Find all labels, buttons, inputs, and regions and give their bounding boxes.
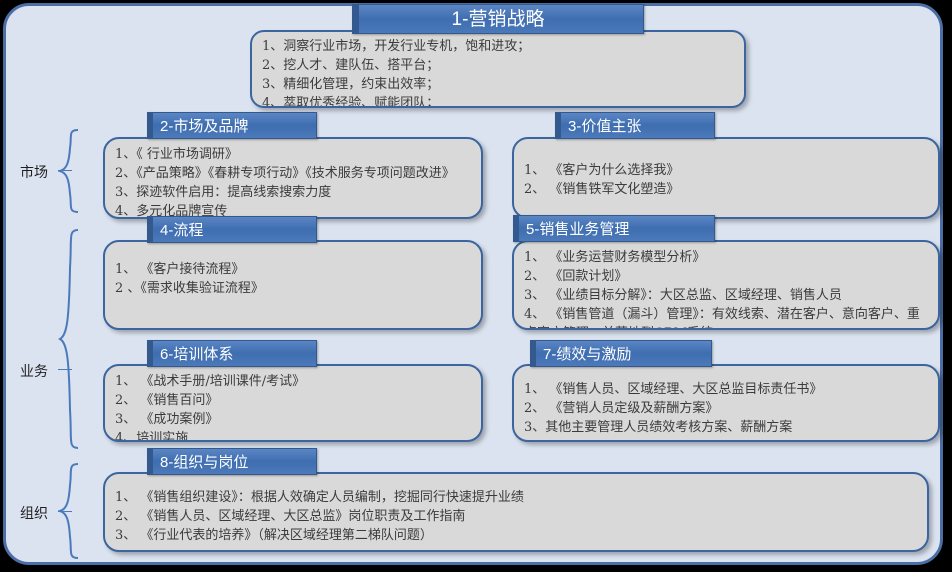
block-list-item: 2、 《销售铁军文化塑造》 <box>524 180 928 199</box>
block-list-item: 3、 《业绩目标分解》：大区总监、区域经理、销售人员 <box>524 286 928 305</box>
block-panel-8: 1、 《销售组织建设》：根据人效确定人员编制，挖掘同行快速提升业绩2、 《销售人… <box>103 472 929 552</box>
block-list-2: 1、《 行业市场调研》2、《产品策略》《春耕专项行动》《技术服务专项问题改进》3… <box>105 139 481 219</box>
group-label-org: 组织 <box>20 503 48 523</box>
block-list-item: 1、 《战术手册/培训课件/考试》 <box>115 372 471 391</box>
block-panel-4: 1、 《客户接待流程》2 、《需求收集验证流程》 <box>103 240 483 330</box>
block-list-item: 2、 《营销人员定级及薪酬方案》 <box>524 399 928 418</box>
block-list-item: 2、《产品策略》《春耕专项行动》《技术服务专项问题改进》 <box>115 164 471 183</box>
diagram-title: 1-营销战略 <box>352 4 644 34</box>
block-header-3[interactable]: 3-价值主张 <box>555 112 715 139</box>
block-list-item: 2 、《需求收集验证流程》 <box>115 279 471 298</box>
block-list-item: 4、 《销售管道（漏斗）管理》：有效线索、潜在客户、意向客户、重点客户管理，并落… <box>524 305 928 330</box>
block-list-item: 1、 《销售人员、区域经理、大区总监目标责任书》 <box>524 380 928 399</box>
block-panel-6: 1、 《战术手册/培训课件/考试》2、 《销售百问》3、 《成功案例》4、培训实… <box>103 364 483 442</box>
summary-panel: 1、洞察行业市场，开发行业专机，饱和进攻；2、挖人才、建队伍、搭平台；3、精细化… <box>250 30 746 108</box>
block-list-item: 3、探迹软件启用：提高线索搜索力度 <box>115 183 471 202</box>
summary-item: 2、挖人才、建队伍、搭平台； <box>262 56 734 75</box>
block-header-6[interactable]: 6-培训体系 <box>147 340 317 367</box>
diagram-root: 1-营销战略 1、洞察行业市场，开发行业专机，饱和进攻；2、挖人才、建队伍、搭平… <box>0 0 952 572</box>
block-list-item: 2、 《回款计划》 <box>524 267 928 286</box>
summary-item: 3、精细化管理，约束出效率； <box>262 75 734 94</box>
block-list-5: 1、 《业务运营财务模型分析》2、 《回款计划》3、 《业绩目标分解》：大区总监… <box>514 242 938 330</box>
block-list-item: 3、 《成功案例》 <box>115 410 471 429</box>
block-header-4[interactable]: 4-流程 <box>147 216 317 243</box>
block-panel-5: 1、 《业务运营财务模型分析》2、 《回款计划》3、 《业绩目标分解》：大区总监… <box>512 240 940 330</box>
block-list-3: 1、 《客户为什么选择我》2、 《销售铁军文化塑造》 <box>514 139 938 203</box>
block-header-5[interactable]: 5-销售业务管理 <box>513 215 715 242</box>
summary-item: 4、萃取优秀经验、赋能团队； <box>262 94 734 108</box>
curly-brace-market-icon <box>58 128 80 214</box>
block-list-item: 1、 《业务运营财务模型分析》 <box>524 248 928 267</box>
block-panel-7: 1、 《销售人员、区域经理、大区总监目标责任书》2、 《营销人员定级及薪酬方案》… <box>512 364 940 442</box>
block-list-4: 1、 《客户接待流程》2 、《需求收集验证流程》 <box>105 242 481 302</box>
curly-brace-business-icon <box>58 228 80 450</box>
block-list-item: 4、培训实施 <box>115 429 471 442</box>
block-panel-2: 1、《 行业市场调研》2、《产品策略》《春耕专项行动》《技术服务专项问题改进》3… <box>103 137 483 219</box>
summary-item: 1、洞察行业市场，开发行业专机，饱和进攻； <box>262 37 734 56</box>
block-list-8: 1、 《销售组织建设》：根据人效确定人员编制，挖掘同行快速提升业绩2、 《销售人… <box>105 474 927 549</box>
block-header-8[interactable]: 8-组织与岗位 <box>147 448 317 475</box>
summary-list: 1、洞察行业市场，开发行业专机，饱和进攻；2、挖人才、建队伍、搭平台；3、精细化… <box>252 32 744 108</box>
block-panel-3: 1、 《客户为什么选择我》2、 《销售铁军文化塑造》 <box>512 137 940 219</box>
block-list-item: 3、 《行业代表的培养》（解决区域经理第二梯队问题） <box>115 526 917 545</box>
block-list-item: 1、 《销售组织建设》：根据人效确定人员编制，挖掘同行快速提升业绩 <box>115 488 917 507</box>
block-list-item: 1、《 行业市场调研》 <box>115 145 471 164</box>
block-list-item: 1、 《客户为什么选择我》 <box>524 161 928 180</box>
group-label-business: 业务 <box>20 361 48 381</box>
block-header-2[interactable]: 2-市场及品牌 <box>147 112 317 139</box>
group-label-market: 市场 <box>20 162 48 182</box>
block-list-6: 1、 《战术手册/培训课件/考试》2、 《销售百问》3、 《成功案例》4、培训实… <box>105 366 481 442</box>
block-list-7: 1、 《销售人员、区域经理、大区总监目标责任书》2、 《营销人员定级及薪酬方案》… <box>514 366 938 441</box>
block-header-7[interactable]: 7-绩效与激励 <box>530 340 712 367</box>
block-list-item: 2、 《销售百问》 <box>115 391 471 410</box>
block-list-item: 2、 《销售人员、区域经理、大区总监》岗位职责及工作指南 <box>115 507 917 526</box>
curly-brace-org-icon <box>58 462 80 560</box>
block-list-item: 3、其他主要管理人员绩效考核方案、薪酬方案 <box>524 418 928 437</box>
block-list-item: 1、 《客户接待流程》 <box>115 260 471 279</box>
